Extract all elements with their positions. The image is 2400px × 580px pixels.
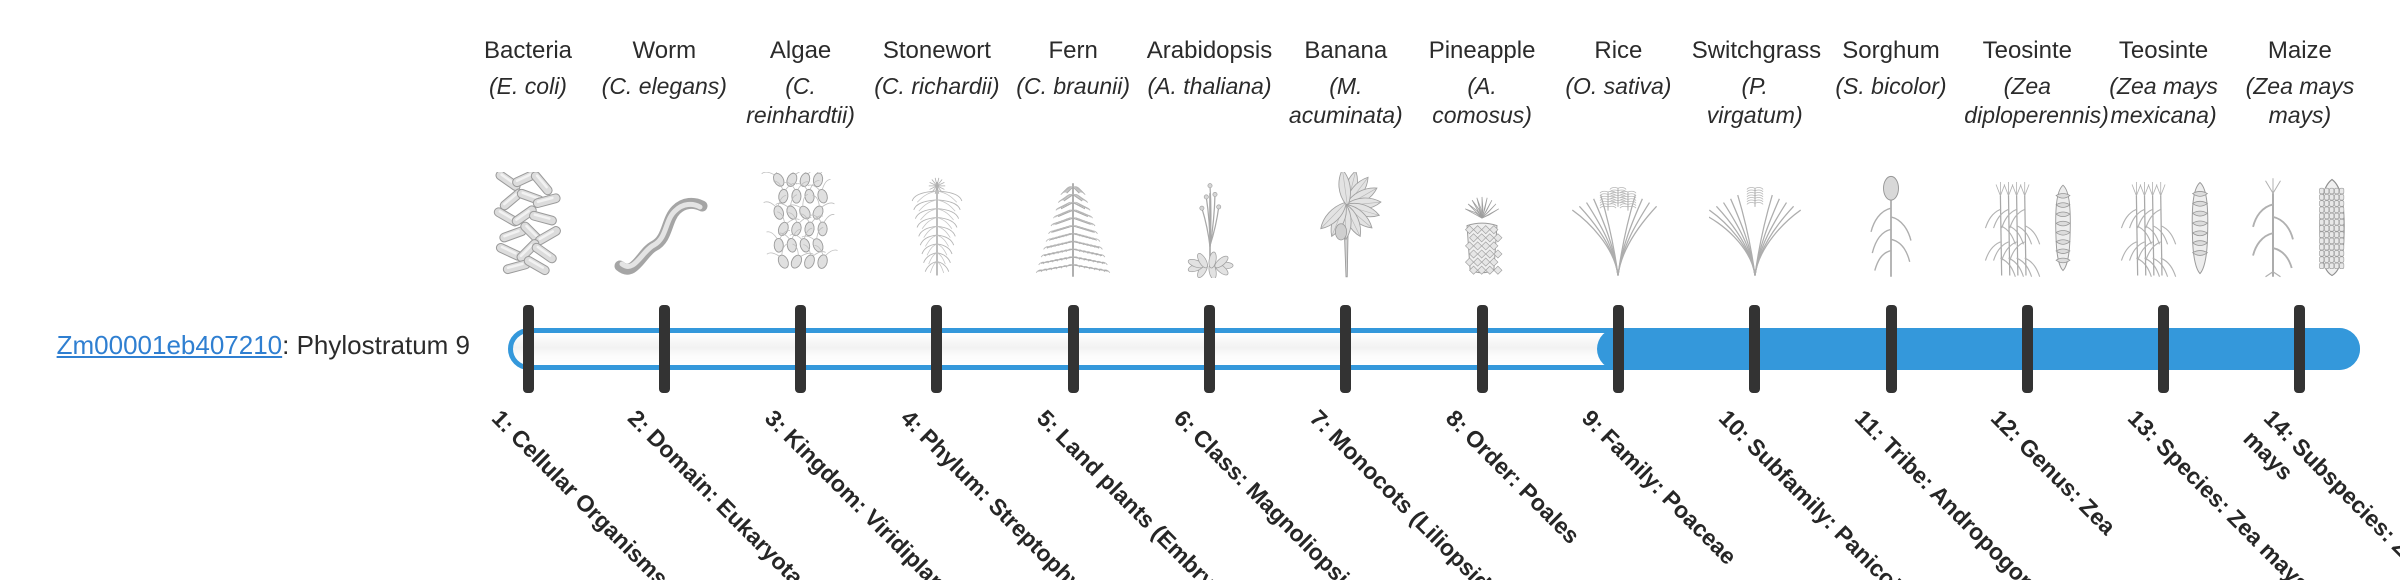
species-column-algae: Algae(C. reinhardtii) [738,36,864,130]
tick-mark-4 [931,305,942,393]
stonewort-icon [874,168,1000,278]
species-common-name: Worm [601,36,727,66]
banana-icon [1283,168,1409,278]
species-column-arabidopsis: Arabidopsis(A. thaliana) [1147,36,1273,101]
worm-icon [601,168,727,278]
species-common-name: Arabidopsis [1147,36,1273,66]
teosinte-mexicana-icon [2101,168,2227,278]
species-column-rice: Rice(O. sativa) [1555,36,1681,101]
tick-mark-1 [523,305,534,393]
species-common-name: Rice [1555,36,1681,66]
tick-mark-12 [2022,305,2033,393]
species-latin-name: (C. elegans) [601,72,727,101]
gene-phylostratum-label: Zm00001eb407210: Phylostratum 9 [0,330,470,360]
gene-label-separator: : [282,330,296,360]
species-column-maize: Maize(Zea mays mays) [2237,36,2363,130]
species-latin-name: (M. acuminata) [1283,72,1409,130]
species-common-name: Teosinte [2101,36,2227,66]
gene-id-link[interactable]: Zm00001eb407210 [57,330,283,360]
species-common-name: Switchgrass [1692,36,1818,66]
tick-mark-3 [795,305,806,393]
species-common-name: Banana [1283,36,1409,66]
tick-mark-13 [2158,305,2169,393]
species-latin-name: (A. thaliana) [1147,72,1273,101]
species-column-teosinte: Teosinte(Zea mays mexicana) [2101,36,2227,130]
tick-mark-7 [1340,305,1351,393]
species-common-name: Fern [1010,36,1136,66]
rank-number: 10: [1714,405,1756,447]
tick-mark-14 [2294,305,2305,393]
species-latin-name: (O. sativa) [1555,72,1681,101]
bacteria-icon [465,168,591,278]
maize-icon [2237,168,2363,278]
species-column-switchgrass: Switchgrass(P. virgatum) [1692,36,1818,130]
species-column-sorghum: Sorghum(S. bicolor) [1828,36,1954,101]
species-common-name: Algae [738,36,864,66]
species-common-name: Bacteria [465,36,591,66]
species-latin-name: (Zea mays mexicana) [2101,72,2227,130]
rank-number: 13: [2123,405,2165,447]
algae-icon [738,168,864,278]
phylostratum-figure: Zm00001eb407210: Phylostratum 9 Bacteria… [0,0,2400,580]
species-column-banana: Banana(M. acuminata) [1283,36,1409,130]
species-common-name: Pineapple [1419,36,1545,66]
rank-name: Family: Poaceae [1596,424,1742,570]
rice-icon [1555,168,1681,278]
species-common-name: Maize [2237,36,2363,66]
species-latin-name: (A. comosus) [1419,72,1545,130]
species-column-bacteria: Bacteria(E. coli) [465,36,591,101]
species-common-name: Sorghum [1828,36,1954,66]
phylostratum-value: Phylostratum 9 [297,330,470,360]
teosinte-diplo-icon [1964,168,2090,278]
species-common-name: Stonewort [874,36,1000,66]
species-latin-name: (Zea mays mays) [2237,72,2363,130]
tick-mark-2 [659,305,670,393]
tick-mark-6 [1204,305,1215,393]
rank-name: Order: Poales [1460,424,1585,549]
rank-name: Genus: Zea [2014,433,2121,540]
species-column-pineapple: Pineapple(A. comosus) [1419,36,1545,130]
species-column-fern: Fern(C. braunii) [1010,36,1136,101]
species-latin-name: (C. braunii) [1010,72,1136,101]
sorghum-icon [1828,168,1954,278]
pineapple-icon [1419,168,1545,278]
species-latin-name: (P. virgatum) [1692,72,1818,130]
rank-number: 11: [1850,405,1891,446]
species-column-teosinte: Teosinte(Zea diploperennis) [1964,36,2090,130]
species-latin-name: (S. bicolor) [1828,72,1954,101]
tick-mark-9 [1613,305,1624,393]
rank-number: 12: [1986,405,2028,447]
phylostratum-bar-fill [1597,328,2360,370]
species-latin-name: (E. coli) [465,72,591,101]
tick-mark-10 [1749,305,1760,393]
species-latin-name: (C. reinhardtii) [738,72,864,130]
species-column-stonewort: Stonewort(C. richardii) [874,36,1000,101]
tick-mark-5 [1068,305,1079,393]
arabidopsis-icon [1147,168,1273,278]
fern-icon [1010,168,1136,278]
species-latin-name: (C. richardii) [874,72,1000,101]
species-common-name: Teosinte [1964,36,2090,66]
tick-mark-11 [1886,305,1897,393]
species-column-worm: Worm(C. elegans) [601,36,727,101]
phylostratum-bar-track[interactable] [508,328,2360,370]
tick-mark-8 [1477,305,1488,393]
switchgrass-icon [1692,168,1818,278]
species-latin-name: (Zea diploperennis) [1964,72,2090,130]
